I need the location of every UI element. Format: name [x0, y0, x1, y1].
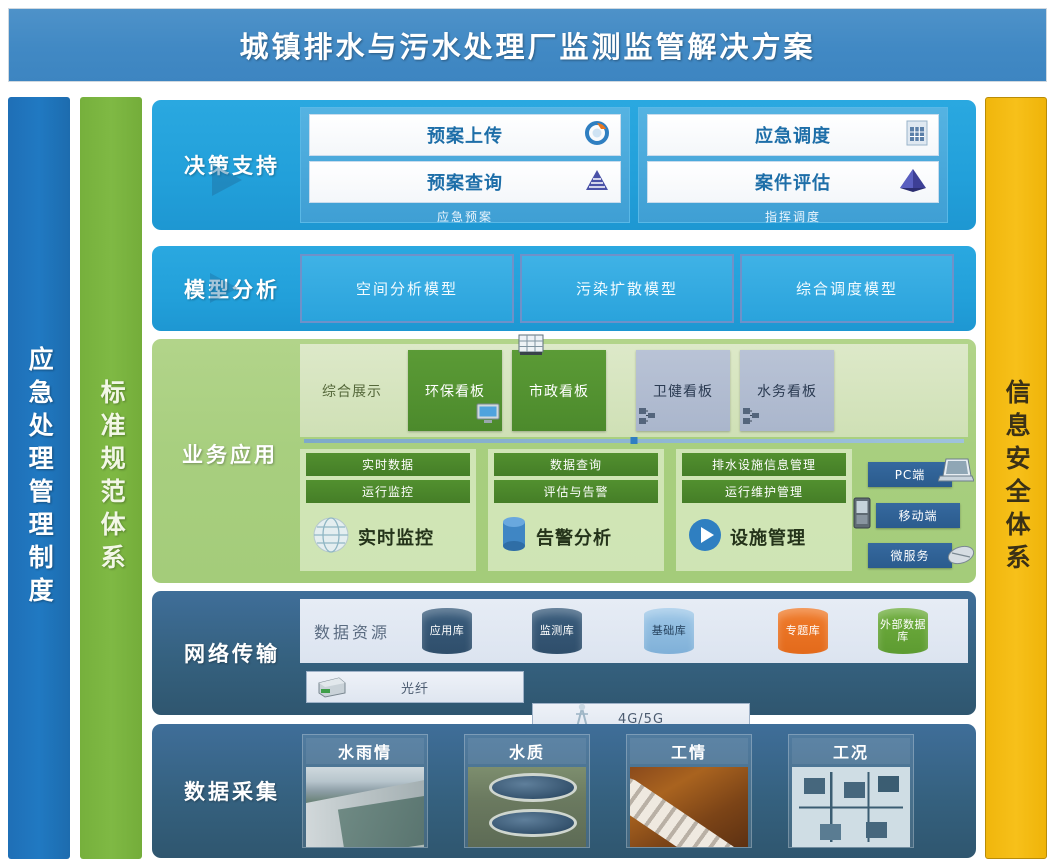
emergency-plan-caption: 应急预案	[309, 208, 621, 225]
case-assessment-row[interactable]: 案件评估	[647, 161, 939, 203]
device-pc-label: PC端	[895, 466, 926, 483]
architecture-diagram: 城镇排水与污水处理厂监测监管解决方案 应急处理管理制度 标准规范体系 信息安全体…	[0, 0, 1055, 868]
device-microservice-label: 微服务	[890, 547, 929, 564]
acquisition-tile-works-condition-label: 工情	[630, 738, 748, 764]
biz-feature-realtime-monitoring[interactable]: 实时监控	[306, 511, 470, 563]
data-acquisition-panel: 数据采集 水雨情 水质 工情 工况	[152, 724, 976, 858]
emergency-dispatch-row[interactable]: 应急调度	[647, 114, 939, 156]
kanban-environment[interactable]: 环保看板	[408, 350, 502, 431]
database-external[interactable]: 外部数据库	[878, 608, 928, 654]
business-column-monitoring: 实时数据 运行监控 实时监控	[300, 449, 476, 571]
transmission-fiber-label: 光纤	[401, 678, 429, 697]
flowchart-icon	[742, 407, 760, 429]
page-title: 城镇排水与污水处理厂监测监管解决方案	[239, 24, 815, 66]
biz-feature-facility-management[interactable]: 设施管理	[682, 511, 846, 563]
plan-query-row[interactable]: 预案查询	[309, 161, 621, 203]
biz-feature-facility-management-label: 设施管理	[730, 524, 806, 550]
command-dispatch-caption: 指挥调度	[647, 208, 939, 225]
biz-feature-realtime-monitoring-label: 实时监控	[358, 524, 434, 550]
acquisition-tile-works-condition[interactable]: 工情	[626, 734, 752, 848]
emergency-plan-group: 预案上传 预案查询 应急预案	[300, 107, 630, 223]
biz-item-assessment-alarm[interactable]: 评估与告警	[494, 480, 658, 503]
kanban-municipal-label: 市政看板	[529, 381, 589, 401]
kanban-water-affairs[interactable]: 水务看板	[740, 350, 834, 431]
transmission-bar: 光纤 4G/5G LORA/NB-IOT	[300, 671, 968, 704]
data-resource-bar: 数据资源 应用库 监测库 基础库 专题库 外部数据库	[300, 599, 968, 663]
model-box-spatial[interactable]: 空间分析模型	[300, 254, 514, 323]
biz-feature-alarm-analysis-label: 告警分析	[536, 524, 612, 550]
business-column-facility: 排水设施信息管理 运行维护管理 设施管理	[676, 449, 852, 571]
pillar-standards-system: 标准规范体系	[80, 97, 142, 859]
emergency-dispatch-label: 应急调度	[755, 122, 831, 148]
command-dispatch-group: 应急调度 案件评估	[638, 107, 948, 223]
model-arrow-icon	[210, 273, 238, 303]
kanban-health-label: 卫健看板	[653, 381, 713, 401]
business-application-panel: 业务应用 综合展示 环保看板 市政看板	[152, 339, 976, 583]
plan-upload-label: 预案上传	[427, 122, 503, 148]
plan-query-label: 预案查询	[427, 169, 503, 195]
acquisition-tile-water-quality-label: 水质	[468, 738, 586, 764]
scada-diagram-photo	[792, 767, 910, 847]
acquisition-tile-water-rain-label: 水雨情	[306, 738, 424, 764]
model-analysis-panel: 模型分析 空间分析模型 污染扩散模型 综合调度模型	[152, 246, 976, 331]
network-transmission-label: 网络传输	[162, 591, 302, 715]
business-divider	[304, 439, 964, 443]
business-application-label: 业务应用	[160, 439, 300, 469]
data-acquisition-label: 数据采集	[162, 724, 302, 858]
monitor-icon	[476, 403, 500, 429]
pipeline-trench-photo	[630, 767, 748, 847]
canal-photo	[306, 767, 424, 847]
phone-icon	[852, 497, 872, 532]
comprehensive-display-bar: 综合展示 环保看板 市政看板	[300, 344, 968, 437]
pillar-information-security: 信息安全体系	[985, 97, 1047, 859]
business-column-query: 数据查询 评估与告警 告警分析	[488, 449, 664, 571]
plan-upload-row[interactable]: 预案上传	[309, 114, 621, 156]
biz-feature-alarm-analysis[interactable]: 告警分析	[494, 511, 658, 563]
database-thematic[interactable]: 专题库	[778, 608, 828, 654]
grid-table-icon	[906, 120, 928, 150]
kanban-health[interactable]: 卫健看板	[636, 350, 730, 431]
database-monitoring[interactable]: 监测库	[532, 608, 582, 654]
window-icon	[518, 334, 544, 360]
device-pc[interactable]: PC端	[868, 462, 952, 487]
biz-item-data-query[interactable]: 数据查询	[494, 453, 658, 476]
decision-arrow-icon	[212, 164, 242, 196]
biz-item-operation-monitoring[interactable]: 运行监控	[306, 480, 470, 503]
pyramid-chart-icon	[584, 168, 610, 196]
pyramid-3d-icon	[898, 167, 928, 197]
network-transmission-panel: 网络传输 数据资源 应用库 监测库 基础库 专题库 外部数据库 光纤	[152, 591, 976, 715]
refresh-cycle-icon	[584, 120, 610, 150]
laptop-icon	[938, 456, 974, 487]
pillar-emergency-management-label: 应急处理管理制度	[26, 346, 52, 610]
globe-icon	[310, 514, 352, 560]
biz-item-maintenance-management[interactable]: 运行维护管理	[682, 480, 846, 503]
pillar-information-security-label: 信息安全体系	[1003, 379, 1029, 577]
biz-item-drainage-facility-info[interactable]: 排水设施信息管理	[682, 453, 846, 476]
pillar-standards-system-label: 标准规范体系	[98, 379, 124, 577]
kanban-municipal[interactable]: 市政看板	[512, 350, 606, 431]
decision-support-panel: 决策支持 预案上传 预案查询	[152, 100, 976, 230]
database-foundation[interactable]: 基础库	[644, 608, 694, 654]
device-mobile[interactable]: 移动端	[876, 503, 960, 528]
model-box-dispatch[interactable]: 综合调度模型	[740, 254, 954, 323]
fiber-device-icon	[315, 674, 347, 704]
acquisition-tile-water-quality[interactable]: 水质	[464, 734, 590, 848]
acquisition-tile-operating-status[interactable]: 工况	[788, 734, 914, 848]
pillar-emergency-management: 应急处理管理制度	[8, 97, 70, 859]
case-assessment-label: 案件评估	[755, 169, 831, 195]
flowchart-icon	[638, 407, 656, 429]
mouse-icon	[946, 543, 976, 570]
data-resource-label: 数据资源	[314, 619, 390, 643]
acquisition-tile-operating-status-label: 工况	[792, 738, 910, 764]
sedimentation-pool-photo	[468, 767, 586, 847]
kanban-water-affairs-label: 水务看板	[757, 381, 817, 401]
play-circle-icon	[686, 516, 724, 558]
database-icon	[498, 515, 530, 559]
transmission-fiber[interactable]: 光纤	[306, 671, 524, 703]
biz-item-realtime-data[interactable]: 实时数据	[306, 453, 470, 476]
device-mobile-label: 移动端	[898, 507, 937, 524]
device-microservice[interactable]: 微服务	[868, 543, 952, 568]
model-box-pollution[interactable]: 污染扩散模型	[520, 254, 734, 323]
diagram-title-bar: 城镇排水与污水处理厂监测监管解决方案	[8, 8, 1047, 82]
kanban-environment-label: 环保看板	[425, 381, 485, 401]
database-application[interactable]: 应用库	[422, 608, 472, 654]
acquisition-tile-water-rain[interactable]: 水雨情	[302, 734, 428, 848]
comprehensive-display-label: 综合展示	[308, 344, 396, 437]
